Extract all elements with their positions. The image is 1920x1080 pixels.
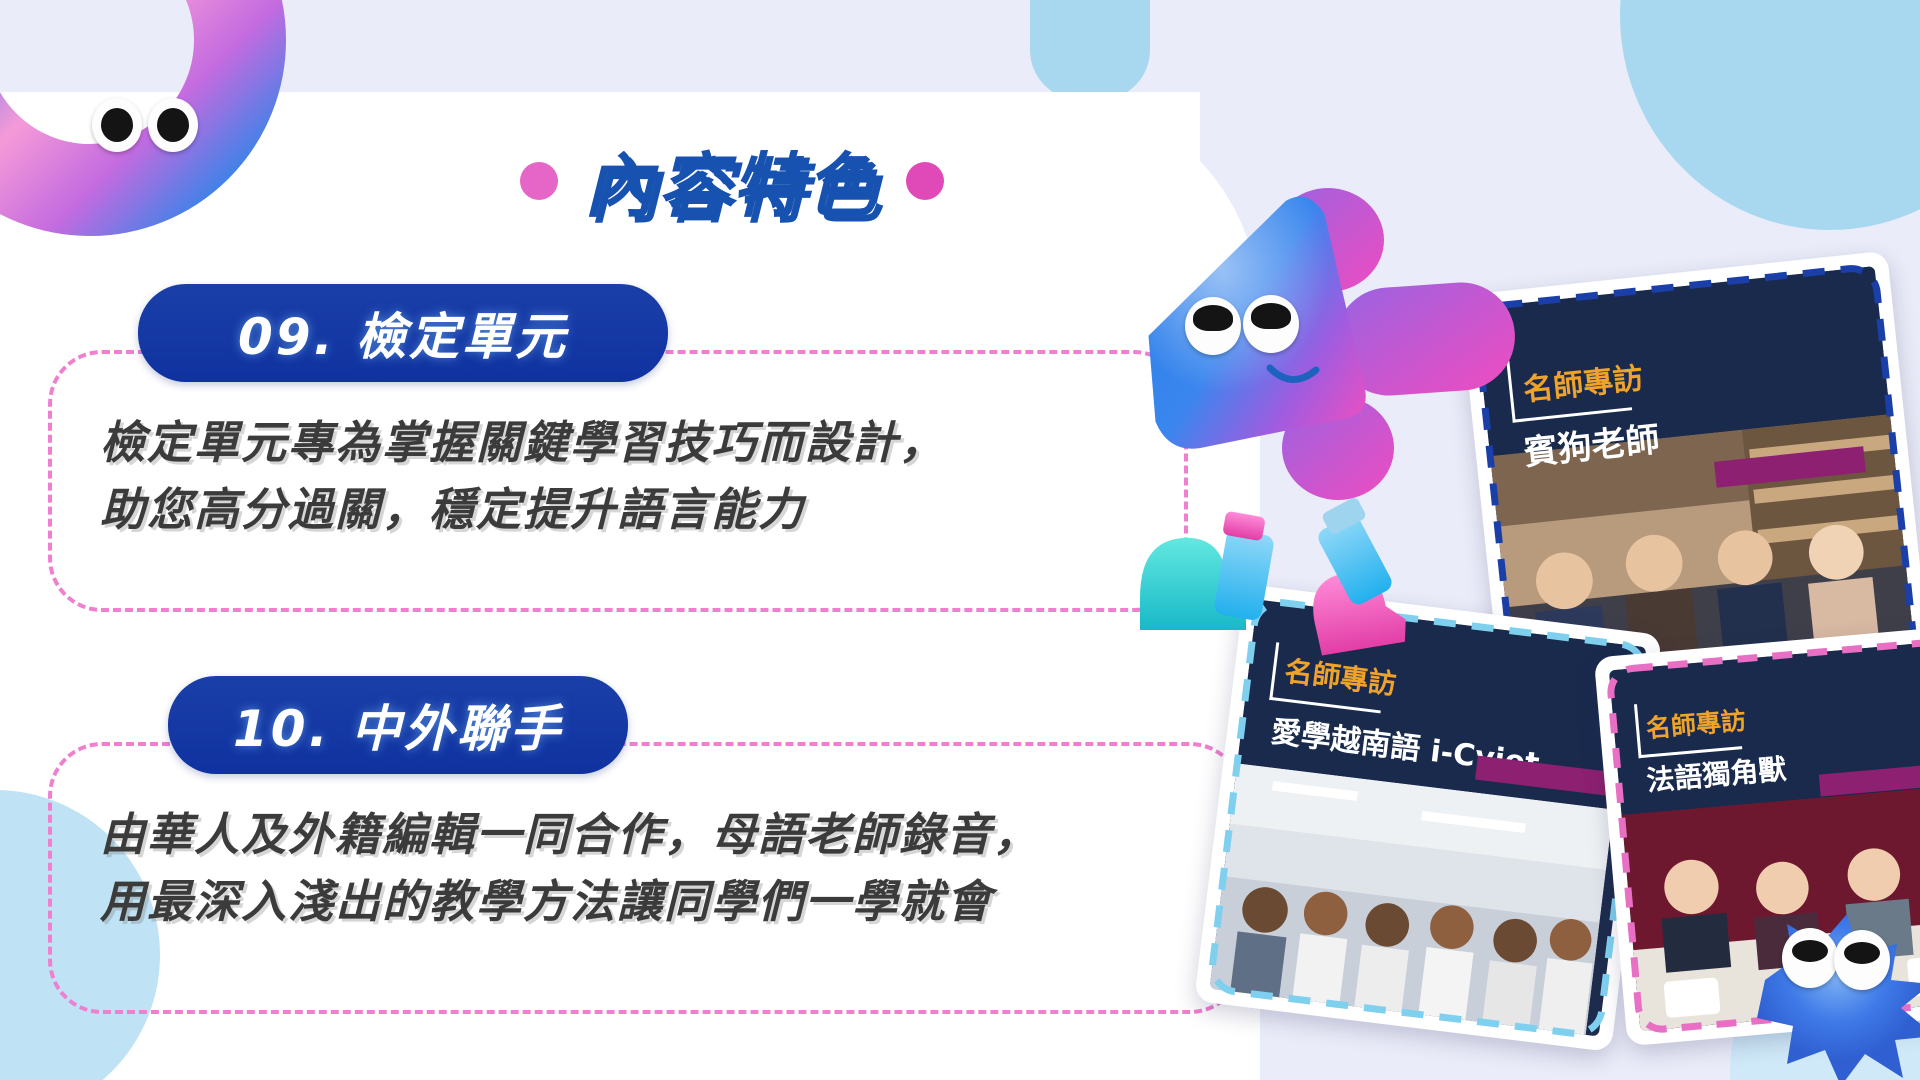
feature-09-line-2: 助您高分過關，穩定提升語言能力 (100, 477, 946, 544)
feature-10-heading: 10. 中外聯手 (233, 689, 563, 761)
feature-09-body: 檢定單元專為掌握關鍵學習技巧而設計， 助您高分過關，穩定提升語言能力 (100, 410, 946, 543)
feature-09-line-1: 檢定單元專為掌握關鍵學習技巧而設計， (100, 410, 946, 477)
balloon-arrow-character (1100, 180, 1540, 620)
feature-09-heading: 09. 檢定單元 (238, 297, 568, 369)
feature-10-line-2: 用最深入淺出的教學方法讓同學們一學就會 (100, 869, 1040, 936)
feature-10-line-1: 由華人及外籍編輯一同合作，母語老師錄音， (100, 802, 1040, 869)
interview-card-2-photo (1210, 763, 1614, 1035)
title-dot-right (906, 162, 944, 200)
page-title-row: 內容特色 (520, 130, 944, 231)
title-dot-left (520, 162, 558, 200)
feature-10-pill: 10. 中外聯手 (168, 676, 628, 774)
arrow-googly-eyes (1185, 295, 1305, 359)
star-googly-eyes (1782, 928, 1902, 990)
interview-card-2-inner: 名師專訪 愛學越南語 i-Cviet (1210, 600, 1647, 1037)
feature-09-pill: 09. 檢定單元 (138, 284, 668, 382)
feature-10-body: 由華人及外籍編輯一同合作，母語老師錄音， 用最深入淺出的教學方法讓同學們一學就會 (100, 802, 1040, 935)
page-title: 內容特色 (584, 130, 880, 231)
background-blob-top-center (1030, 0, 1150, 100)
ring-googly-eyes (92, 98, 202, 158)
